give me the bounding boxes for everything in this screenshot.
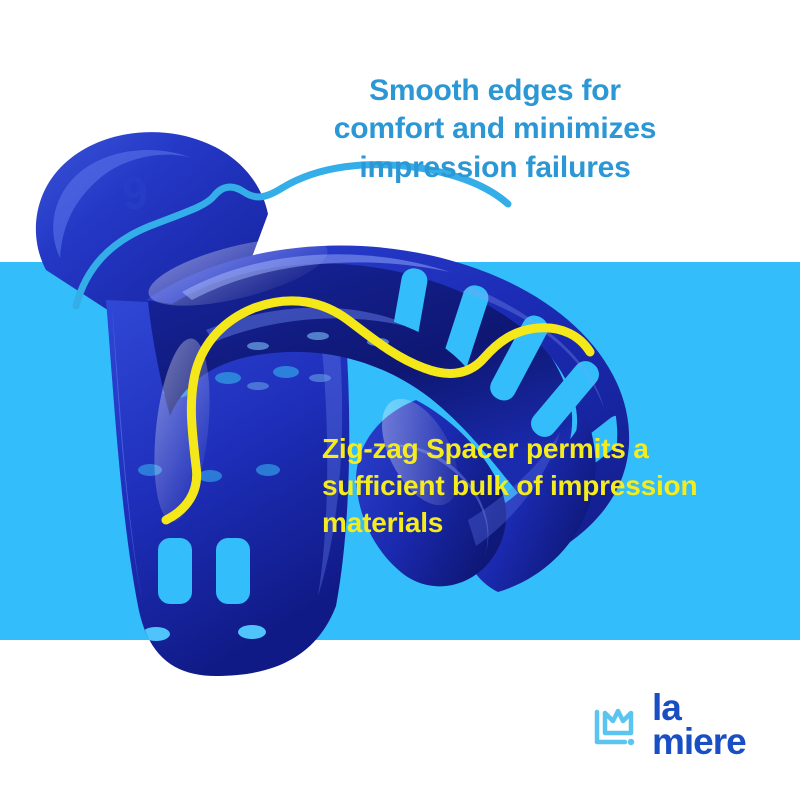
- subline-line-3: materials: [322, 504, 784, 541]
- brand-logo-line-1: la: [652, 691, 746, 725]
- brand-logo-line-2: miere: [652, 725, 746, 759]
- subline-line-2: sufficient bulk of impression: [322, 467, 784, 504]
- crown-bracket-icon: [592, 700, 642, 750]
- handle-size-marking: 9: [120, 166, 151, 220]
- subline-line-1: Zig-zag Spacer permits a: [322, 430, 784, 467]
- headline-line-2: comfort and minimizes: [280, 110, 710, 148]
- headline-line-3: impression failures: [280, 149, 710, 187]
- headline-text: Smooth edges for comfort and minimizes i…: [280, 72, 710, 187]
- brand-logo-wordmark: la miere: [652, 691, 746, 760]
- subline-text: Zig-zag Spacer permits a sufficient bulk…: [322, 430, 784, 542]
- brand-logo[interactable]: la miere: [592, 686, 772, 764]
- poster-canvas: 9: [0, 0, 800, 800]
- headline-line-1: Smooth edges for: [280, 72, 710, 110]
